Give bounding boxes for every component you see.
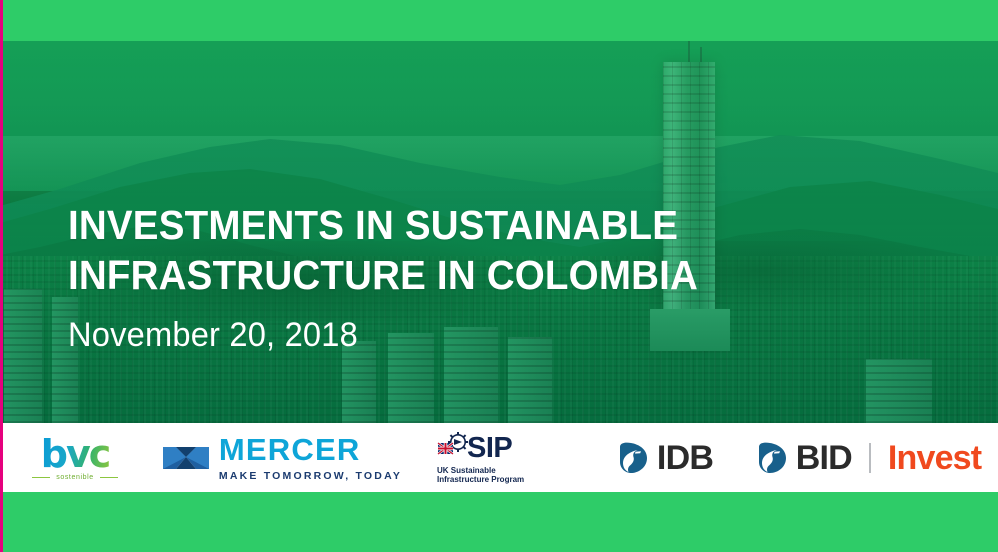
bid-leaf-icon [755, 441, 789, 475]
event-date: November 20, 2018 [68, 316, 711, 355]
sip-top-row: SIP [437, 431, 512, 463]
sponsor-logo-bar: bvc sostenible MERCER MAKE TOMORROW, TOD… [0, 423, 998, 492]
idb-leaf-icon [616, 441, 650, 475]
mercer-wordmark: MERCER [219, 434, 402, 465]
union-jack-icon [438, 443, 453, 454]
top-green-bar [0, 0, 998, 41]
bvc-dash-left-icon [32, 477, 50, 478]
mercer-tagline: MAKE TOMORROW, TODAY [219, 470, 402, 482]
mercer-mark-icon [163, 443, 209, 473]
bid-wordmark: BID [796, 441, 852, 475]
logo-bid-invest[interactable]: BID Invest [752, 423, 998, 492]
left-edge-strip [0, 0, 3, 552]
bottom-green-bar [0, 492, 998, 552]
sip-wordmark: SIP [467, 435, 512, 463]
bid-invest-wordmark: Invest [888, 441, 981, 475]
headline-line-2: INFRASTRUCTURE IN COLOMBIA [68, 250, 698, 300]
event-banner: INVESTMENTS IN SUSTAINABLEINFRASTRUCTURE… [0, 0, 998, 552]
logo-mercer[interactable]: MERCER MAKE TOMORROW, TODAY [150, 423, 415, 492]
sip-tagline: UK Sustainable Infrastructure Program [437, 466, 524, 484]
bvc-dash-right-icon [100, 477, 118, 478]
logo-idb[interactable]: IDB [577, 423, 752, 492]
page-title: INVESTMENTS IN SUSTAINABLEINFRASTRUCTURE… [68, 200, 698, 300]
sip-gear-union-jack-icon [437, 431, 471, 465]
bvc-tagline: sostenible [56, 474, 94, 481]
mercer-text-block: MERCER MAKE TOMORROW, TODAY [219, 434, 402, 482]
headline-line-1: INVESTMENTS IN SUSTAINABLE [68, 202, 678, 248]
banner-copy: INVESTMENTS IN SUSTAINABLEINFRASTRUCTURE… [68, 200, 738, 355]
bvc-wordmark: bvc [41, 435, 110, 473]
idb-wordmark: IDB [657, 441, 713, 475]
sip-tagline-line-1: UK Sustainable [437, 466, 524, 475]
bid-divider [869, 443, 871, 473]
sip-tagline-line-2: Infrastructure Program [437, 475, 524, 484]
logo-bvc[interactable]: bvc sostenible [0, 423, 150, 492]
bvc-tagline-row: sostenible [32, 474, 118, 481]
logo-sip[interactable]: SIP UK Sustainable Infrastructure Progra… [415, 423, 577, 492]
